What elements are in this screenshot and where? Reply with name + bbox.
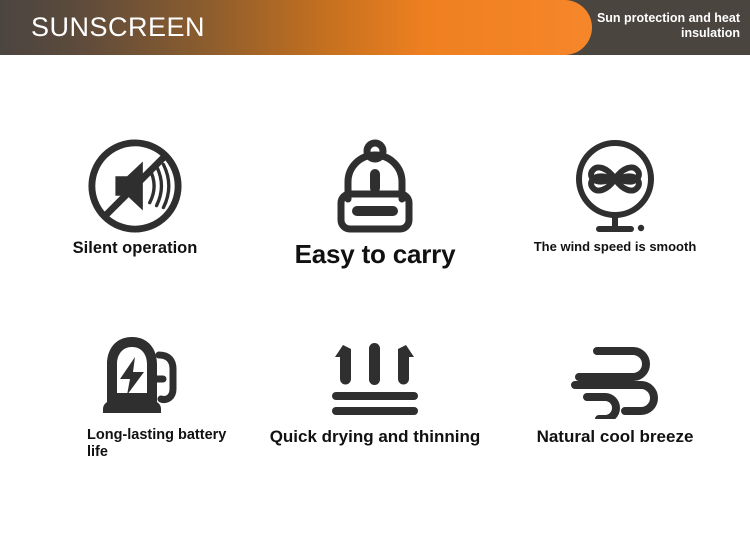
feature-label: Silent operation [15,239,255,258]
feature-label: Natural cool breeze [495,427,735,447]
feature-card-wind-speed: The wind speed is smooth [495,133,735,254]
feature-grid: Silent operation Easy to carry [0,55,750,495]
feature-label: Easy to carry [255,239,495,270]
airflow-arrows-icon [255,327,495,427]
mute-speaker-icon [15,133,255,239]
backpack-icon [255,133,495,239]
feature-card-quick-drying: Quick drying and thinning [255,327,495,447]
feature-card-battery-life: Long-lasting battery life [15,327,255,461]
fan-icon [495,133,735,239]
page-header: SUNSCREEN Sun protection and heat insula… [0,0,750,55]
feature-card-easy-to-carry: Easy to carry [255,133,495,270]
wind-swoosh-icon [495,327,735,427]
charging-station-icon [15,327,255,427]
feature-label: Long-lasting battery life [15,427,255,461]
feature-card-silent-operation: Silent operation [15,133,255,258]
feature-label: The wind speed is smooth [495,239,735,254]
feature-card-cool-breeze: Natural cool breeze [495,327,735,447]
page-title: SUNSCREEN [31,12,205,43]
feature-label: Quick drying and thinning [255,427,495,447]
header-tagline: Sun protection and heat insulation [570,11,740,41]
